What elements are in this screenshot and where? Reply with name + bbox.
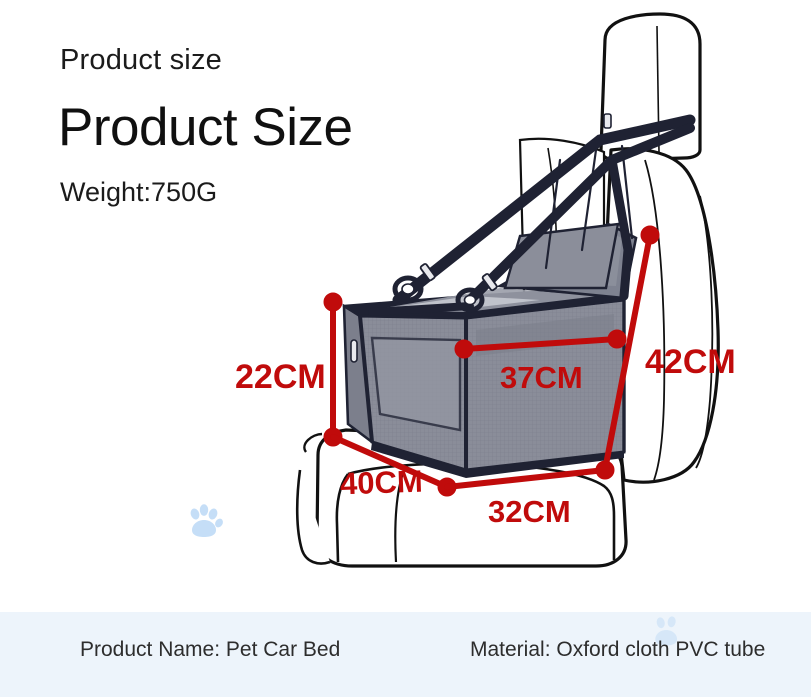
dimension-label-40cm: 40CM — [339, 464, 423, 503]
footer-material: Material: Oxford cloth PVC tube — [470, 638, 765, 662]
dim-dot-42-top — [641, 226, 659, 244]
clip-ring-left-inner — [402, 284, 414, 294]
dim-dot-22-top — [324, 293, 342, 311]
buckle-slider-c — [604, 114, 611, 128]
dimension-label-42cm: 42CM — [645, 343, 736, 382]
dim-dot-32-right — [596, 461, 614, 479]
pet-bed-graphic — [344, 224, 636, 478]
dimension-label-37cm: 37CM — [500, 360, 583, 396]
dim-dot-37-left — [455, 340, 473, 358]
product-illustration — [0, 0, 811, 612]
bed-front-mesh-window — [372, 338, 460, 430]
dimension-label-22cm: 22CM — [235, 358, 326, 397]
clip-ring-right-inner — [465, 296, 476, 305]
footer-product-name: Product Name: Pet Car Bed — [80, 638, 340, 662]
paw-print-icon — [182, 500, 226, 544]
bed-side-tab — [351, 340, 357, 362]
dim-dot-37-right — [608, 330, 626, 348]
dimension-label-32cm: 32CM — [488, 494, 571, 530]
product-size-infographic: Product size Product Size Weight:750G — [0, 0, 811, 697]
